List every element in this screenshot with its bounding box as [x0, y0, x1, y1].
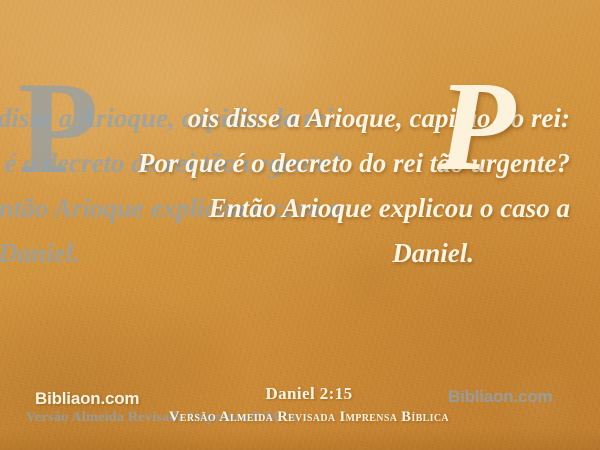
- verse-reference-block: Daniel 2:15 Versão Almeida Revisada Impr…: [0, 384, 600, 426]
- main-text-layer: P ois disse a Arioque, capitão do rei: P…: [0, 0, 600, 450]
- bible-version-label: Versão Almeida Revisada Imprensa Bíblica: [18, 409, 600, 426]
- bible-verse-card: P ois disse a Arioque, capitão do rei: P…: [0, 0, 600, 450]
- dropcap-letter: P: [437, 62, 515, 190]
- verse-reference: Daniel 2:15: [18, 384, 600, 404]
- quote-line-4: Daniel.: [30, 231, 570, 276]
